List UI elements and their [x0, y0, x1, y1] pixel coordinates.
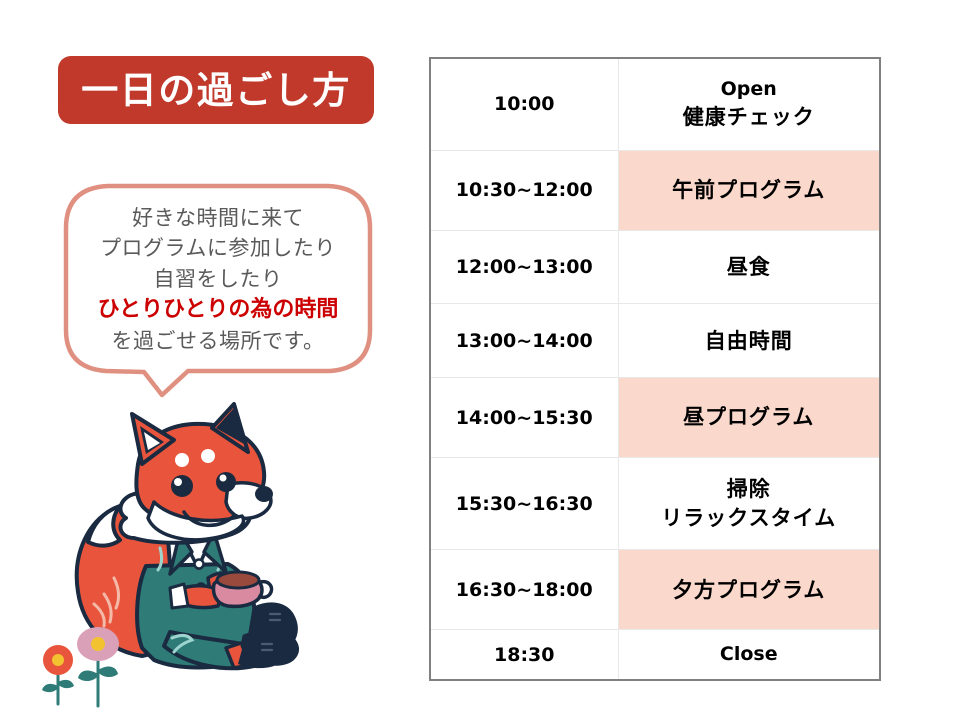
time-cell: 18:30	[430, 630, 618, 680]
activity-cell: Close	[618, 630, 880, 680]
page-title-banner: 一日の過ごし方	[58, 56, 374, 124]
activity-line: 自由時間	[625, 327, 874, 355]
slide-root: 一日の過ごし方 好きな時間に来て プログラムに参加したり 自習をしたり ひとりひ…	[0, 0, 960, 720]
activity-cell: 自由時間	[618, 304, 880, 378]
activity-cell: Open 健康チェック	[618, 58, 880, 150]
time-cell: 12:00~13:00	[430, 230, 618, 304]
table-row: 16:30~18:00 夕方プログラム	[430, 550, 880, 630]
activity-cell: 夕方プログラム	[618, 550, 880, 630]
bubble-line-5: を過ごせる場所です。	[62, 326, 374, 356]
time-cell: 10:30~12:00	[430, 150, 618, 230]
schedule-table-body: 10:00 Open 健康チェック 10:30~12:00 午前プログラム 12…	[430, 58, 880, 680]
time-cell: 13:00~14:00	[430, 304, 618, 378]
activity-line: リラックスタイム	[625, 504, 874, 532]
activity-line: Open	[625, 77, 874, 103]
schedule-table: 10:00 Open 健康チェック 10:30~12:00 午前プログラム 12…	[429, 57, 881, 681]
page-title: 一日の過ごし方	[81, 72, 351, 109]
table-row: 18:30 Close	[430, 630, 880, 680]
table-row: 13:00~14:00 自由時間	[430, 304, 880, 378]
table-row: 15:30~16:30 掃除 リラックスタイム	[430, 458, 880, 550]
bubble-line-1: 好きな時間に来て	[62, 203, 374, 233]
time-cell: 16:30~18:00	[430, 550, 618, 630]
time-cell: 14:00~15:30	[430, 378, 618, 458]
activity-cell: 昼プログラム	[618, 378, 880, 458]
bubble-line-2: プログラムに参加したり	[62, 233, 374, 263]
left-panel: 一日の過ごし方 好きな時間に来て プログラムに参加したり 自習をしたり ひとりひ…	[0, 0, 420, 720]
speech-bubble: 好きな時間に来て プログラムに参加したり 自習をしたり ひとりひとりの為の時間 …	[62, 182, 374, 397]
flowers-illustration	[28, 612, 138, 712]
activity-line: 健康チェック	[625, 103, 874, 131]
activity-cell: 昼食	[618, 230, 880, 304]
time-cell: 15:30~16:30	[430, 458, 618, 550]
speech-bubble-text: 好きな時間に来て プログラムに参加したり 自習をしたり ひとりひとりの為の時間 …	[62, 203, 374, 357]
activity-line: 掃除	[625, 475, 874, 503]
activity-line: Close	[625, 642, 874, 668]
table-row: 10:30~12:00 午前プログラム	[430, 150, 880, 230]
bubble-line-3: 自習をしたり	[62, 264, 374, 294]
activity-line: 昼食	[625, 253, 874, 281]
activity-cell: 午前プログラム	[618, 150, 880, 230]
table-row: 14:00~15:30 昼プログラム	[430, 378, 880, 458]
activity-cell: 掃除 リラックスタイム	[618, 458, 880, 550]
table-row: 10:00 Open 健康チェック	[430, 58, 880, 150]
time-cell: 10:00	[430, 58, 618, 150]
activity-line: 昼プログラム	[625, 403, 874, 431]
activity-line: 夕方プログラム	[625, 576, 874, 604]
schedule-table-wrap: 10:00 Open 健康チェック 10:30~12:00 午前プログラム 12…	[429, 57, 881, 681]
activity-line: 午前プログラム	[625, 176, 874, 204]
bubble-line-4-accent: ひとりひとりの為の時間	[62, 294, 374, 326]
table-row: 12:00~13:00 昼食	[430, 230, 880, 304]
